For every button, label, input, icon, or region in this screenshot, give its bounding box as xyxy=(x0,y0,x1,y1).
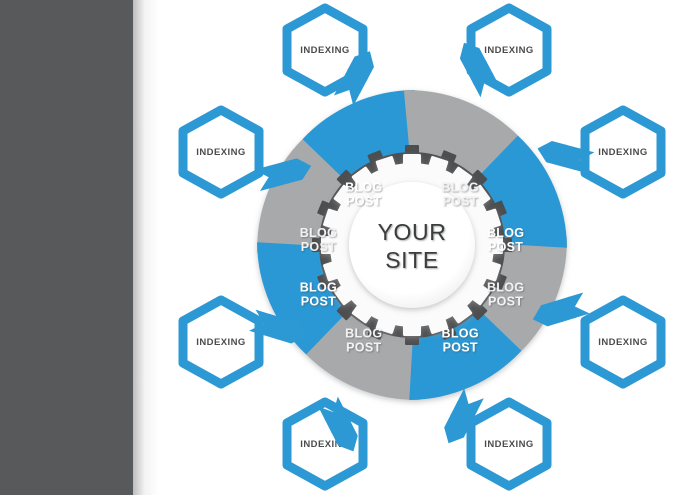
segment-7-line2: POST xyxy=(301,240,336,254)
rail-edge-shadow xyxy=(133,0,159,495)
segment-7-line1: BLOG xyxy=(300,226,337,240)
segment-2-line2: POST xyxy=(488,240,523,254)
chevrons-right-upper xyxy=(540,144,596,188)
segment-4-line1: BLOG xyxy=(442,326,479,340)
chevrons-top-left xyxy=(318,55,374,99)
segment-5-line2: POST xyxy=(346,340,381,354)
segment-2-line1: BLOG xyxy=(487,226,524,240)
segment-5-line1: BLOG xyxy=(345,326,382,340)
infographic-canvas: Joomla! Drupal phpDolphin tm xyxy=(0,0,700,495)
segment-6-line1: BLOG xyxy=(300,281,337,295)
segment-3-line1: BLOG xyxy=(487,281,524,295)
blog-post-wheel: YOUR SITE BLOG POST BLOG POST BLOG POST … xyxy=(232,65,592,425)
segment-1-line1: BLOG xyxy=(442,180,479,194)
segment-3-line2: POST xyxy=(488,295,523,309)
indexing-label: INDEXING xyxy=(598,147,648,158)
indexing-label: INDEXING xyxy=(598,337,648,348)
chevrons-right-lower xyxy=(540,296,596,340)
chevrons-bottom-right xyxy=(444,395,500,439)
segment-1-line2: POST xyxy=(443,194,478,208)
chevrons-bottom-left xyxy=(318,395,374,439)
segment-0-line2: POST xyxy=(346,194,381,208)
chevrons-top-right xyxy=(444,55,500,99)
chevrons-left-lower xyxy=(248,296,304,340)
segment-6-line2: POST xyxy=(301,295,336,309)
indexing-label: INDEXING xyxy=(196,147,246,158)
segment-0-line1: BLOG xyxy=(345,180,382,194)
platform-logo-rail xyxy=(0,0,133,495)
indexing-label: INDEXING xyxy=(196,337,246,348)
segment-4-line2: POST xyxy=(443,340,478,354)
indexing-label: INDEXING xyxy=(484,439,534,450)
chevrons-left-upper xyxy=(248,144,304,188)
core-label-line1: YOUR xyxy=(378,219,447,245)
core-label-line2: SITE xyxy=(385,247,439,273)
